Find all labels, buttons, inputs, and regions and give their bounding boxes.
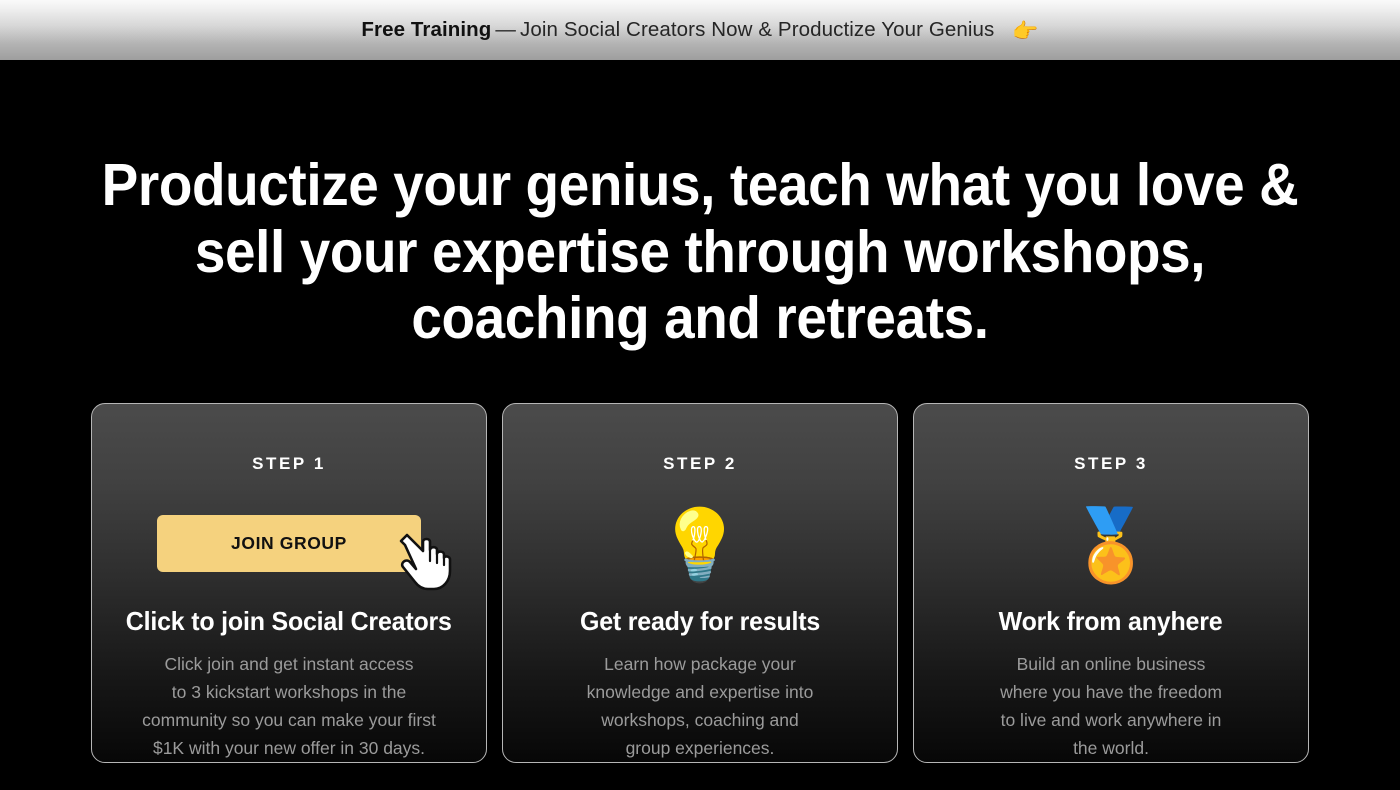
step-title-3: Work from anyhere — [999, 607, 1223, 636]
step-label-1: STEP 1 — [252, 454, 326, 474]
step-media-3: 🏅 — [914, 494, 1308, 595]
step-media-2: 💡 — [503, 494, 897, 595]
step-card-1[interactable]: STEP 1 JOIN GROUP Click to join Social C… — [91, 403, 487, 763]
banner-dash: — — [491, 18, 520, 42]
light-bulb-emoji: 💡 — [656, 510, 743, 580]
sports-medal-emoji: 🏅 — [1067, 510, 1154, 580]
step-title-2: Get ready for results — [580, 607, 820, 636]
banner-message: Join Social Creators Now & Productize Yo… — [520, 18, 994, 42]
step-description-3: Build an online business where you have … — [1000, 650, 1222, 762]
step-label-2: STEP 2 — [663, 454, 737, 474]
page-title: Productize your genius, teach what you l… — [49, 152, 1351, 352]
step-card-3[interactable]: STEP 3 🏅 Work from anyhere Build an onli… — [913, 403, 1309, 763]
announcement-banner[interactable]: Free Training — Join Social Creators Now… — [0, 0, 1400, 60]
banner-strong-text: Free Training — [361, 18, 491, 42]
join-group-button[interactable]: JOIN GROUP — [157, 515, 421, 572]
step-title-1: Click to join Social Creators — [126, 607, 452, 636]
step-description-2: Learn how package your knowledge and exp… — [587, 650, 814, 762]
hero-section: Productize your genius, teach what you l… — [0, 60, 1400, 352]
step-card-2[interactable]: STEP 2 💡 Get ready for results Learn how… — [502, 403, 898, 763]
step-label-3: STEP 3 — [1074, 454, 1148, 474]
steps-row: STEP 1 JOIN GROUP Click to join Social C… — [0, 403, 1400, 763]
pointing-right-hand-emoji: 👉 — [1012, 21, 1038, 42]
step-description-1: Click join and get instant access to 3 k… — [142, 650, 436, 762]
step-media-1: JOIN GROUP — [92, 494, 486, 593]
join-group-wrap: JOIN GROUP — [157, 515, 421, 572]
